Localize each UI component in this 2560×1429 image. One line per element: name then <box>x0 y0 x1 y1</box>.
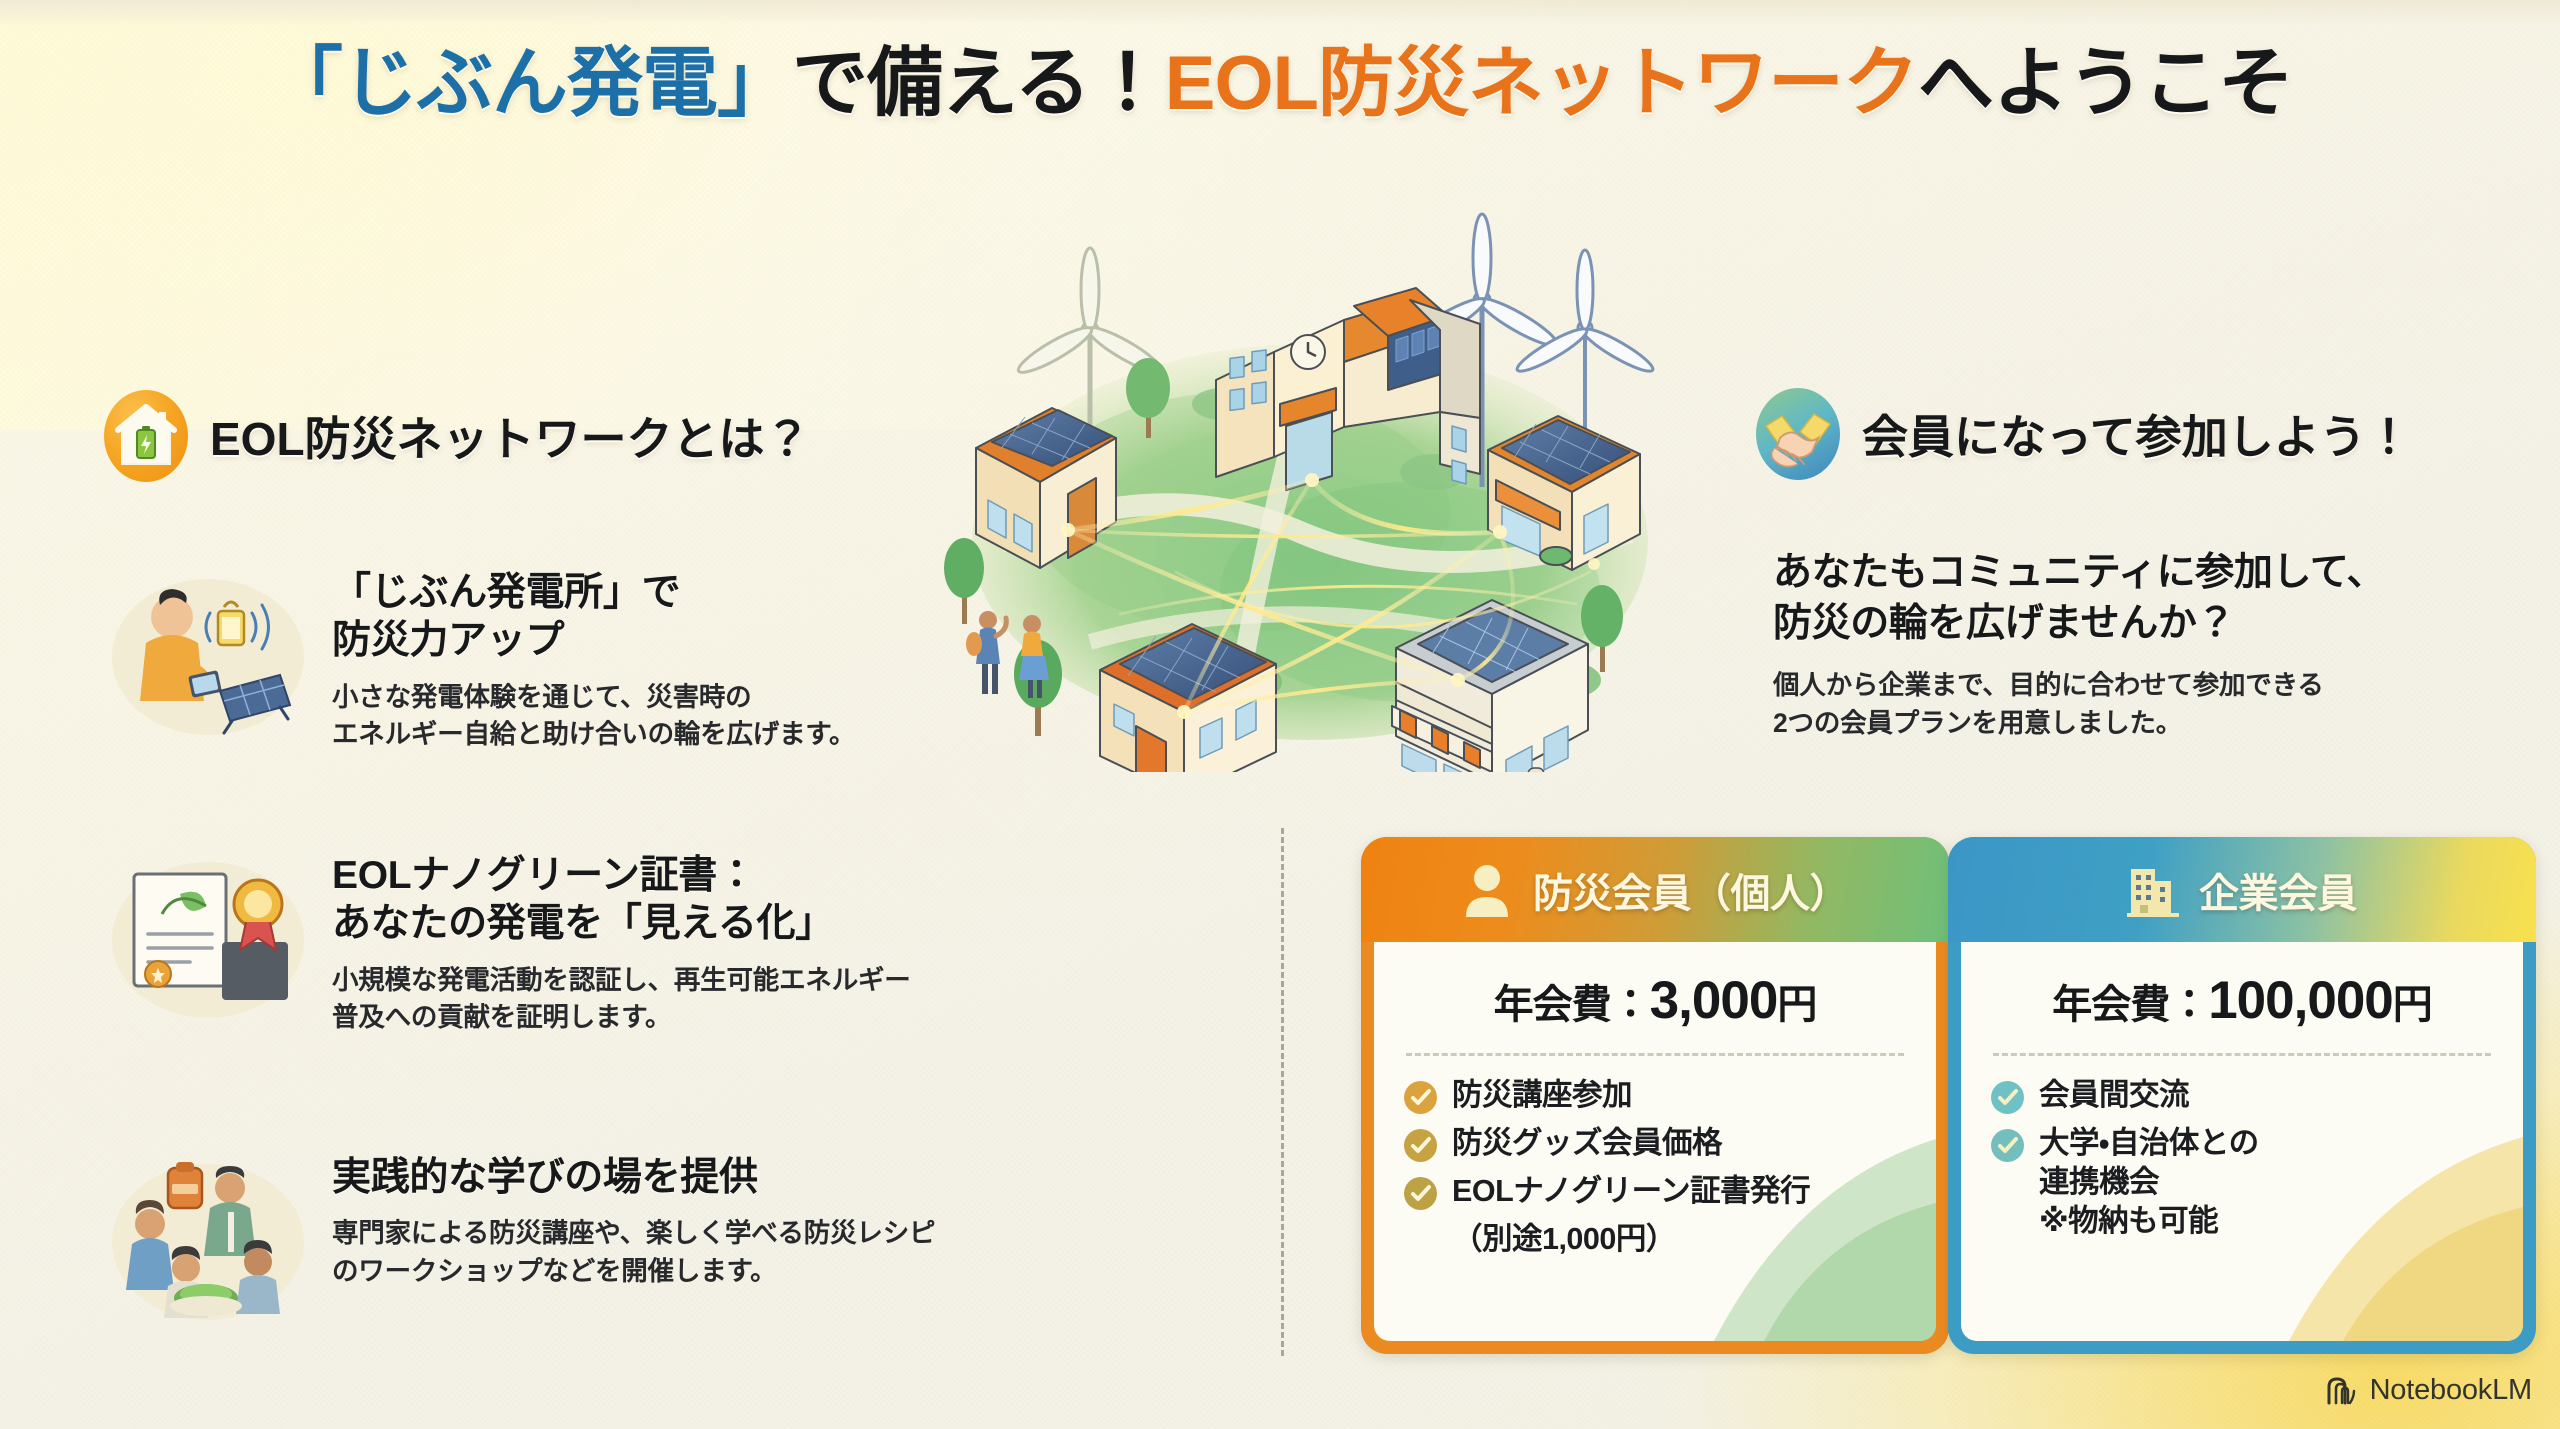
notebooklm-watermark: NotebookLM <box>2325 1374 2532 1407</box>
title-part-brand: EOL防災ネットワーク <box>1165 41 1918 126</box>
benefit-item: 防災講座参加 <box>1404 1076 1906 1115</box>
section-heading-membership-label: 会員になって参加しよう！ <box>1862 401 2412 467</box>
price-divider <box>1993 1053 2491 1056</box>
certificate-medal-icon <box>110 848 306 1020</box>
feature-body: 小さな発電体験を通じて、災害時の エネルギー自給と助け合いの輪を広げます。 <box>332 679 855 754</box>
vertical-dashed-divider <box>1281 828 1284 1356</box>
benefit-label: （別途1,000円） <box>1452 1220 1676 1259</box>
plan-card-corporate-title: 企業会員 <box>2199 861 2357 919</box>
section-heading-membership: 会員になって参加しよう！ <box>1756 388 2412 480</box>
check-circle-icon <box>1404 1081 1437 1114</box>
plan-card-corporate-header: 企業会員 <box>1948 837 2536 942</box>
plan-card-personal-benefits: 防災講座参加 防災グッズ会員価格 EOLナノグリーン証書発行 （別途1,000円… <box>1404 1076 1906 1259</box>
membership-lead-heading: あなたもコミュニティに参加して、 防災の輪を広げませんか？ <box>1773 548 2533 649</box>
price-amount: 3,000 <box>1650 971 1778 1030</box>
plan-card-personal-title: 防災会員（個人） <box>1533 861 1849 919</box>
plan-card-personal-header: 防災会員（個人） <box>1361 837 1949 942</box>
title-part-quoted: 「じぶん発電」 <box>267 41 792 126</box>
benefit-label: 大学・自治体との 連携機会 ※物納も可能 <box>2039 1124 2259 1241</box>
plan-card-personal-body: 年会費：3,000円 防災講座参加 防災グッズ会員価格 EOLナノグリーン証書発… <box>1374 942 1936 1341</box>
price-label: 年会費： <box>2052 983 2208 1027</box>
price-amount: 100,000 <box>2208 971 2393 1030</box>
feature-heading: EOLナノグリーン証書： あなたの発電を「見える化」 <box>332 852 911 949</box>
benefit-label: 会員間交流 <box>2039 1076 2189 1115</box>
check-circle-icon <box>1404 1177 1437 1210</box>
benefit-label: EOLナノグリーン証書発行 <box>1452 1172 1810 1211</box>
notebooklm-spiral-icon <box>2325 1375 2359 1407</box>
price-unit: 円 <box>1777 983 1816 1027</box>
benefit-item: 大学・自治体との 連携機会 ※物納も可能 <box>1991 1124 2493 1241</box>
feature-item-self-power: 「じぶん発電所」で 防災力アップ 小さな発電体験を通じて、災害時の エネルギー自… <box>110 565 1230 754</box>
feature-heading: 「じぶん発電所」で 防災力アップ <box>332 569 855 666</box>
check-circle-icon <box>1404 1129 1437 1162</box>
person-icon <box>1461 861 1513 919</box>
plan-card-corporate-body: 年会費：100,000円 会員間交流 大学・自治体との 連携機会 ※物納も可能 <box>1961 942 2523 1341</box>
price-unit: 円 <box>2393 983 2432 1027</box>
feature-item-workshops: 実践的な学びの場を提供 専門家による防災講座や、楽しく学べる防災レシピ のワーク… <box>110 1150 1230 1322</box>
membership-lead-copy: あなたもコミュニティに参加して、 防災の輪を広げませんか？ 個人から企業まで、目… <box>1773 548 2533 743</box>
plan-card-personal-price: 年会費：3,000円 <box>1404 970 1906 1031</box>
person-lantern-solar-icon <box>110 565 306 737</box>
title-part-welcome: へようこそ <box>1918 41 2293 126</box>
top-edge-shade <box>0 0 2560 26</box>
notebooklm-label: NotebookLM <box>2370 1374 2532 1407</box>
feature-body: 専門家による防災講座や、楽しく学べる防災レシピ のワークショップなどを開催します… <box>332 1215 935 1290</box>
price-divider <box>1406 1053 1904 1056</box>
house-battery-icon <box>104 390 188 482</box>
title-part-verb: で備える！ <box>792 41 1165 126</box>
building-icon <box>2127 861 2179 919</box>
check-circle-icon <box>1991 1081 2024 1114</box>
benefit-label: 防災グッズ会員価格 <box>1452 1124 1722 1163</box>
plan-card-personal[interactable]: 防災会員（個人） 年会費：3,000円 防災講座参加 防災グッズ会員価格 EOL… <box>1361 837 1949 1354</box>
benefit-item: 会員間交流 <box>1991 1076 2493 1115</box>
handshake-icon <box>1756 388 1840 480</box>
benefit-item-note: （別途1,000円） <box>1404 1220 1906 1259</box>
feature-body: 小規模な発電活動を認証し、再生可能エネルギー 普及への貢献を証明します。 <box>332 962 911 1037</box>
page-title: 「じぶん発電」で備える！EOL防災ネットワークへようこそ <box>0 46 2560 122</box>
benefit-label: 防災講座参加 <box>1452 1076 1632 1115</box>
feature-heading: 実践的な学びの場を提供 <box>332 1154 935 1202</box>
benefit-item: EOLナノグリーン証書発行 <box>1404 1172 1906 1211</box>
plan-card-corporate[interactable]: 企業会員 年会費：100,000円 会員間交流 大学・自治体との 連携機会 ※物… <box>1948 837 2536 1354</box>
feature-item-green-certificate: EOLナノグリーン証書： あなたの発電を「見える化」 小規模な発電活動を認証し、… <box>110 848 1230 1037</box>
plan-card-corporate-price: 年会費：100,000円 <box>1991 970 2493 1031</box>
check-circle-icon <box>1991 1129 2024 1162</box>
membership-lead-body: 個人から企業まで、目的に合わせて参加できる 2つの会員プランを用意しました。 <box>1773 667 2533 742</box>
benefit-item: 防災グッズ会員価格 <box>1404 1124 1906 1163</box>
plan-card-corporate-benefits: 会員間交流 大学・自治体との 連携機会 ※物納も可能 <box>1991 1076 2493 1241</box>
price-label: 年会費： <box>1494 983 1650 1027</box>
section-heading-about-label: EOL防災ネットワークとは？ <box>210 403 811 469</box>
section-heading-about: EOL防災ネットワークとは？ <box>104 390 811 482</box>
workshop-people-icon <box>110 1150 306 1322</box>
